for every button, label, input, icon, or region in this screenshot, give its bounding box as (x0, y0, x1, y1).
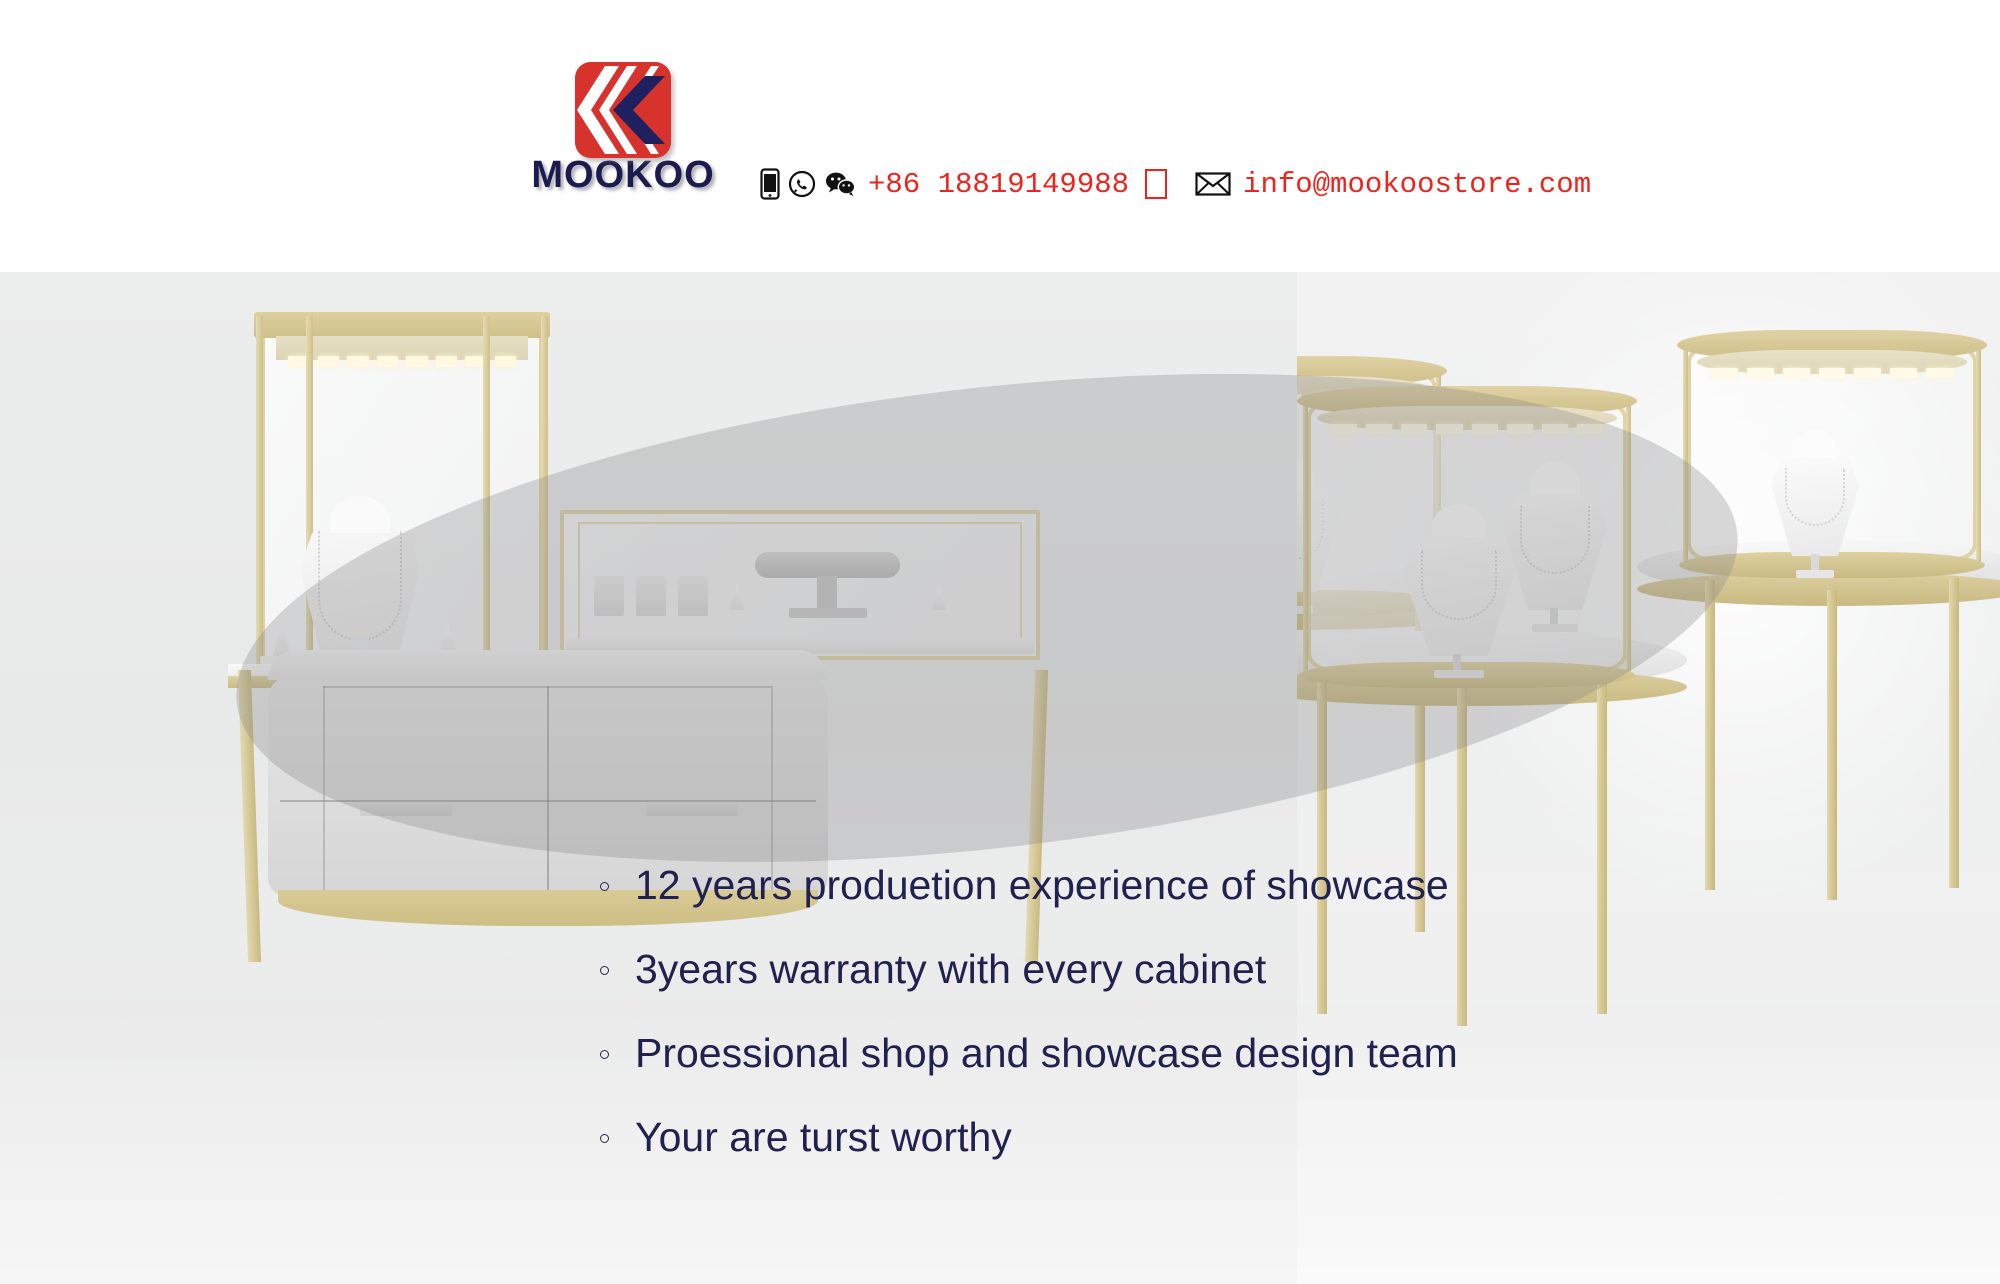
list-item: 3years warranty with every cabinet (600, 928, 1660, 1012)
circle-bullet-icon (600, 1050, 609, 1059)
mobile-phone-icon (760, 168, 780, 200)
page-root: MOOKOO (0, 0, 2000, 1284)
mookoo-chevron-logo-icon (575, 62, 671, 158)
whatsapp-icon[interactable] (788, 170, 816, 198)
bullet-text: 3years warranty with every cabinet (635, 948, 1266, 991)
bullet-text: 12 years produetion experience of showca… (635, 864, 1449, 907)
bullet-text: Your are turst worthy (635, 1116, 1012, 1159)
wechat-icon[interactable] (824, 170, 856, 198)
envelope-icon (1195, 171, 1231, 197)
site-header: MOOKOO (0, 0, 2000, 272)
bullet-text: Proessional shop and showcase design tea… (635, 1032, 1458, 1075)
circle-bullet-icon (600, 1134, 609, 1143)
list-item: 12 years produetion experience of showca… (600, 844, 1660, 928)
list-item: Proessional shop and showcase design tea… (600, 1012, 1660, 1096)
circle-bullet-icon (600, 966, 609, 975)
empty-box-glyph-icon (1145, 169, 1167, 199)
brand-block[interactable]: MOOKOO (532, 62, 714, 196)
email-address[interactable]: info@mookoostore.com (1243, 170, 1591, 199)
watch-display-case (560, 510, 1040, 660)
feature-bullet-list: 12 years produetion experience of showca… (600, 844, 1660, 1180)
phone-number[interactable]: +86 18819149988 (868, 170, 1129, 199)
circle-bullet-icon (600, 882, 609, 891)
hero-banner: 12 years produetion experience of showca… (0, 272, 2000, 1284)
brand-name: MOOKOO (531, 156, 714, 196)
list-item: Your are turst worthy (600, 1096, 1660, 1180)
header-contact-bar: +86 18819149988 info@mookoostore.com (760, 168, 1591, 200)
